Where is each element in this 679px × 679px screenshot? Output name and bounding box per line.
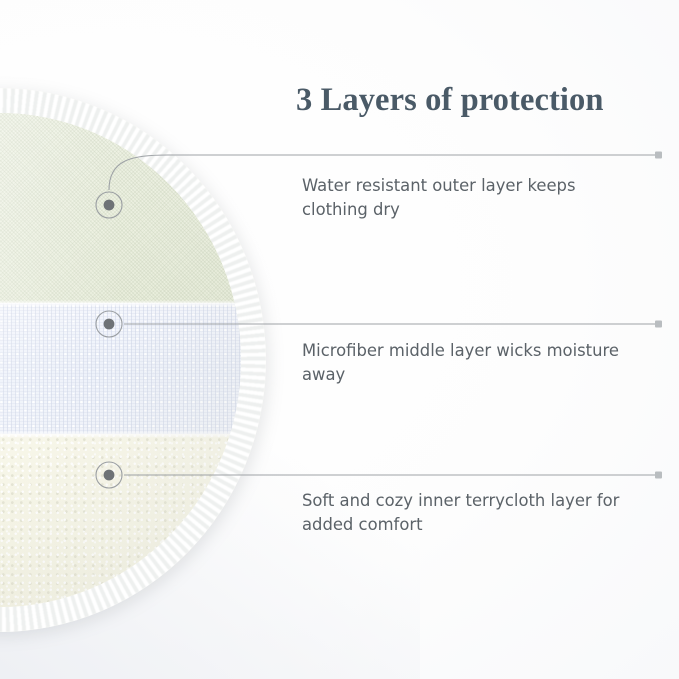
marker-dot-middle-layer[interactable]: [104, 319, 115, 330]
marker-dot-outer-layer[interactable]: [104, 200, 115, 211]
callout-label-middle-layer: Microfiber middle layer wicks moisture a…: [302, 339, 632, 387]
page-title: 3 Layers of protection: [296, 82, 604, 119]
infographic-canvas: 3 Layers of protection Water resistant o…: [0, 0, 679, 679]
callout-markers: [96, 192, 122, 488]
callout-label-outer-layer: Water resistant outer layer keeps clothi…: [302, 174, 632, 222]
callout-label-inner-layer: Soft and cozy inner terrycloth layer for…: [302, 489, 632, 537]
marker-dot-inner-layer[interactable]: [104, 470, 115, 481]
leader-line-end-caps: [655, 152, 662, 479]
